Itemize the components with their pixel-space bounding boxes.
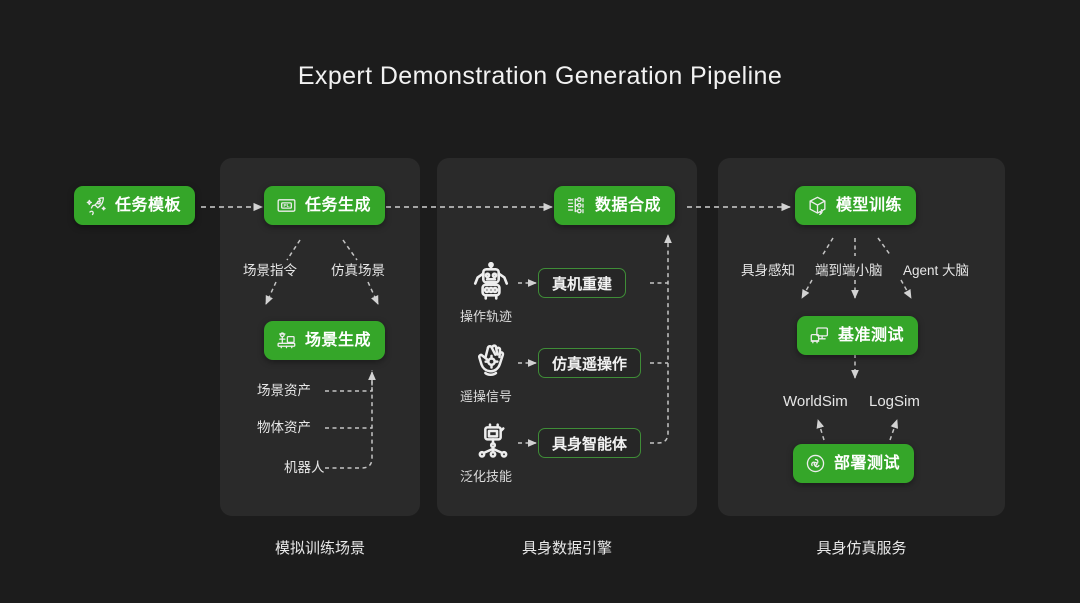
chip-net-icon: [473, 422, 513, 467]
cube-train-icon: [807, 195, 828, 216]
label-operation-trajectory: 操作轨迹: [460, 310, 512, 323]
label-robot: 机器人: [284, 461, 325, 475]
node-label: 基准测试: [838, 328, 904, 344]
rocket-icon: [86, 195, 107, 216]
label-agent-brain: Agent 大脑: [903, 264, 969, 278]
node-scene-generation[interactable]: 场景生成: [264, 321, 385, 360]
node-data-synthesis[interactable]: 数据合成: [554, 186, 675, 225]
label-end-to-end-cerebellum: 端到端小脑: [815, 264, 883, 278]
svg-text:PL: PL: [283, 203, 289, 209]
caption-panel-2: 具身数据引擎: [437, 537, 697, 558]
glove-icon: [472, 342, 512, 387]
node-label: 任务模板: [115, 198, 181, 214]
label-generalization-skill: 泛化技能: [460, 470, 512, 483]
label-logsim: LogSim: [869, 394, 920, 409]
node-label: 模型训练: [836, 198, 902, 214]
node-label: 数据合成: [595, 198, 661, 214]
node-label: 任务生成: [305, 198, 371, 214]
page-title: Expert Demonstration Generation Pipeline: [0, 62, 1080, 91]
node-label: 部署测试: [834, 456, 900, 472]
label-worldsim: WorldSim: [783, 394, 848, 409]
box-real-machine-reconstruction[interactable]: 真机重建: [538, 268, 626, 298]
caption-panel-1: 模拟训练场景: [220, 537, 420, 558]
label-teleoperation-signal: 遥操信号: [460, 390, 512, 403]
node-label: 场景生成: [305, 333, 371, 349]
label-scene-instruction: 场景指令: [243, 264, 297, 278]
box-simulated-teleoperation[interactable]: 仿真遥操作: [538, 348, 641, 378]
node-model-training[interactable]: 模型训练: [795, 186, 916, 225]
node-benchmark-test[interactable]: 基准测试: [797, 316, 918, 355]
label-embodied-perception: 具身感知: [741, 264, 795, 278]
caption-panel-3: 具身仿真服务: [718, 537, 1005, 558]
data-sync-icon: [566, 195, 587, 216]
label-simulation-scene: 仿真场景: [331, 264, 385, 278]
scene-robot-icon: [276, 330, 297, 351]
diagram-canvas: Expert Demonstration Generation Pipeline: [0, 0, 1080, 603]
label-scene-assets: 场景资产: [257, 384, 311, 398]
node-task-template[interactable]: 任务模板: [74, 186, 195, 225]
node-deployment-test[interactable]: 部署测试: [793, 444, 914, 483]
robot-icon: [470, 262, 512, 309]
box-embodied-agent[interactable]: 具身智能体: [538, 428, 641, 458]
pl-frame-icon: PL: [276, 195, 297, 216]
benchmark-screen-icon: [809, 325, 830, 346]
node-task-generation[interactable]: PL 任务生成: [264, 186, 385, 225]
label-object-assets: 物体资产: [257, 421, 311, 435]
deploy-swirl-icon: [805, 453, 826, 474]
